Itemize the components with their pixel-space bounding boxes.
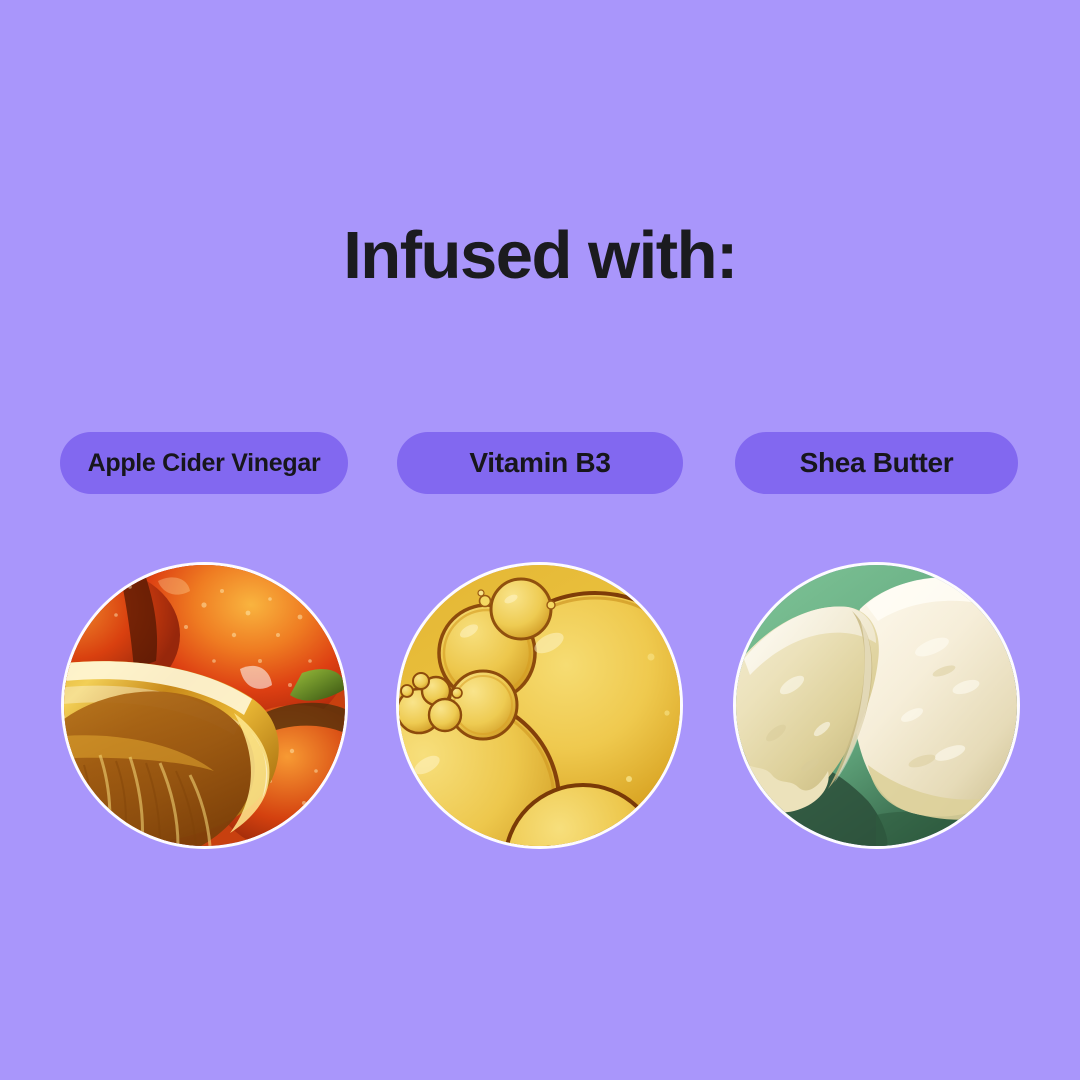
shea-butter-photo — [736, 565, 1017, 846]
ingredient-pill-label: Vitamin B3 — [469, 447, 610, 479]
apple-cider-vinegar-photo — [64, 565, 345, 846]
ingredient-pill-label: Apple Cider Vinegar — [88, 449, 321, 478]
ingredient-pill-shea-butter[interactable]: Shea Butter — [735, 432, 1018, 494]
ingredient-pill-apple-cider-vinegar[interactable]: Apple Cider Vinegar — [60, 432, 348, 494]
vitamin-b3-oil-bubbles-photo — [399, 565, 680, 846]
ingredient-pill-label: Shea Butter — [800, 447, 954, 479]
promo-canvas: Infused with: Apple Cider Vinegar Vitami… — [0, 0, 1080, 1080]
page-title: Infused with: — [0, 222, 1080, 289]
ingredient-pill-vitamin-b3[interactable]: Vitamin B3 — [397, 432, 683, 494]
ingredient-image-row — [0, 565, 1080, 847]
ingredient-pill-row: Apple Cider Vinegar Vitamin B3 Shea Butt… — [0, 432, 1080, 494]
